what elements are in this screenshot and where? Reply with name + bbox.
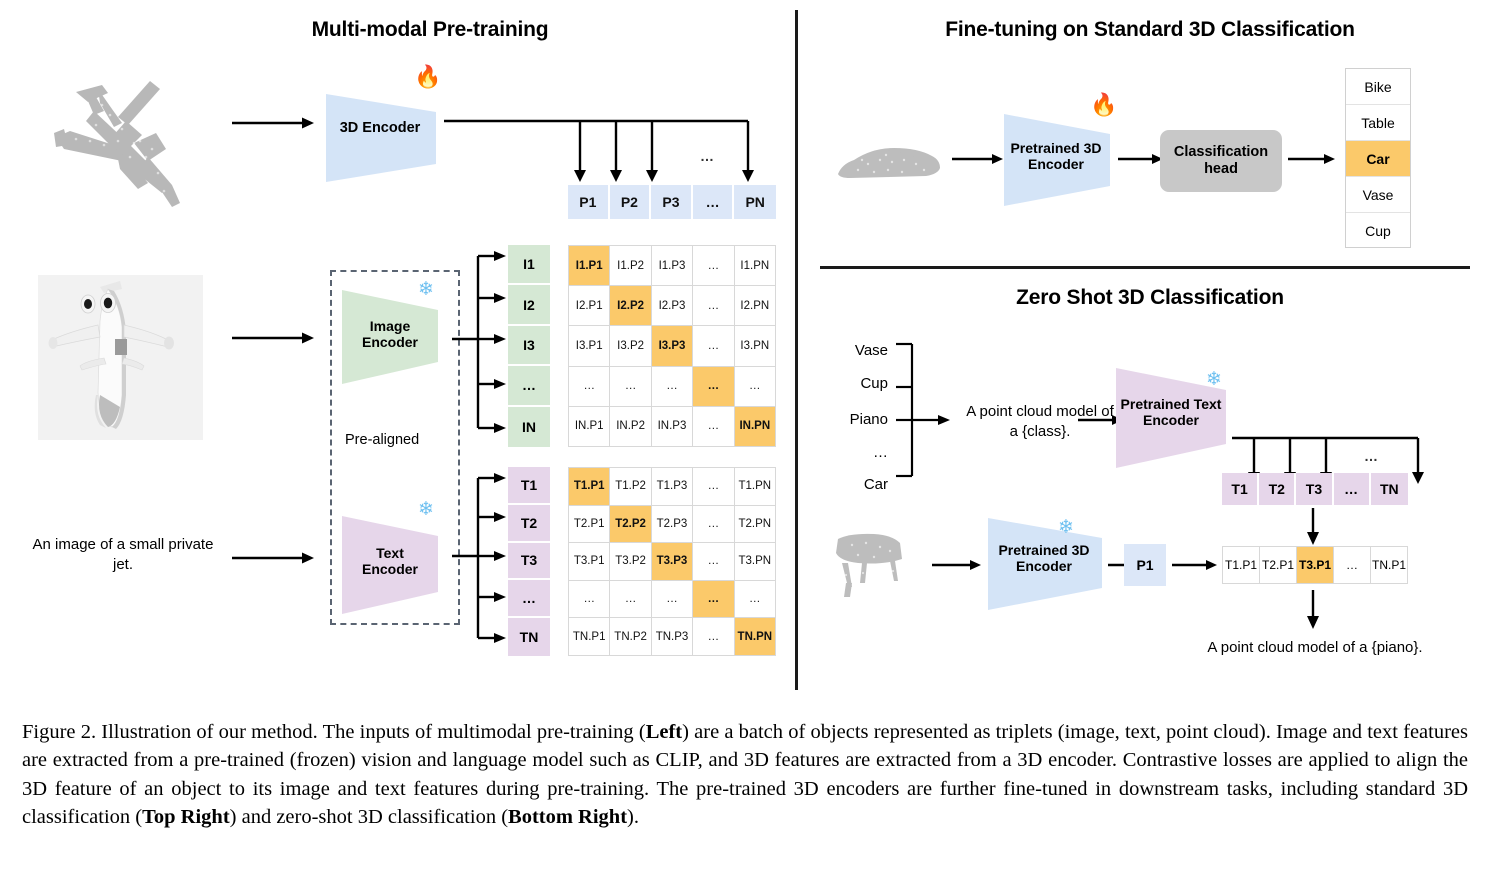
caption-suffix: ). [627, 806, 639, 828]
snowflake-icon: ❄ [1206, 370, 1222, 389]
classification-head-box[interactable]: Classification head [1160, 130, 1282, 192]
zeroshot-score-cell: T1.P1 [1223, 547, 1259, 583]
image-similarity-cell: I2.PN [735, 286, 775, 325]
classification-head-line1: Classification [1174, 144, 1268, 160]
zeroshot-result-text: A point cloud model of a {piano}. [1180, 638, 1450, 658]
arrow-p1-to-scores [1172, 558, 1218, 572]
text-similarity-cell: T2.P1 [569, 506, 609, 543]
text-similarity-cell: T3.P1 [569, 543, 609, 580]
p1-feature-box[interactable]: P1 [1124, 544, 1166, 586]
jet-render-image [38, 275, 203, 440]
text-similarity-cell: … [693, 506, 733, 543]
fanout-ellipsis: … [700, 148, 715, 164]
p-feature-cell[interactable]: … [693, 185, 735, 219]
zeroshot-class-item: Car [826, 467, 888, 501]
car-pointcloud-icon [828, 130, 948, 190]
text-similarity-cell: TN.P2 [610, 618, 650, 655]
image-similarity-cell: IN.PN [735, 407, 775, 446]
image-similarity-cell: I1.P3 [652, 246, 692, 285]
image-similarity-cell: I1.PN [735, 246, 775, 285]
topright-panel-title: Fine-tuning on Standard 3D Classificatio… [870, 18, 1430, 42]
t-feature-cell[interactable]: T1 [508, 467, 550, 505]
text-similarity-cell: TN.P1 [569, 618, 609, 655]
pretrained-3d-encoder-shape-zeroshot[interactable] [984, 514, 1116, 614]
arrow-t-row-to-scores [1306, 508, 1320, 546]
arrow-scores-to-result [1306, 590, 1320, 630]
arrow-pointcloud-to-3d-encoder [232, 115, 316, 131]
image-feature-fanout [452, 248, 508, 444]
text-similarity-cell: T1.P2 [610, 468, 650, 505]
arrow-car-to-encoder [952, 152, 1004, 166]
text-encoder-shape[interactable] [338, 510, 454, 618]
image-similarity-cell: IN.P3 [652, 407, 692, 446]
text-similarity-cell: … [569, 581, 609, 618]
p-feature-cell[interactable]: P1 [568, 185, 610, 219]
zeroshot-t-cell[interactable]: T3 [1296, 473, 1333, 505]
fire-icon: 🔥 [1090, 94, 1117, 116]
text-similarity-cell: … [610, 581, 650, 618]
fire-icon: 🔥 [414, 66, 441, 88]
class-list-item[interactable]: Bike [1346, 69, 1410, 105]
text-similarity-cell: … [693, 581, 733, 618]
text-similarity-cell: … [693, 468, 733, 505]
text-feature-fanout [452, 470, 508, 650]
i-feature-cell[interactable]: IN [508, 407, 550, 447]
threed-encoder-shape[interactable] [320, 92, 448, 184]
text-input-value: An image of a small private jet. [33, 536, 214, 573]
zeroshot-class-item: Vase [826, 335, 888, 365]
zeroshot-score-cell: … [1334, 547, 1370, 583]
zeroshot-class-item: Piano [826, 401, 888, 437]
image-similarity-cell: I3.P1 [569, 326, 609, 365]
arrow-head-to-classes [1288, 152, 1336, 166]
t-feature-cell[interactable]: T3 [508, 543, 550, 581]
snowflake-icon: ❄ [418, 500, 434, 519]
text-similarity-cell: T1.PN [735, 468, 775, 505]
image-point-similarity-matrix: I1.P1I1.P2I1.P3…I1.PNI2.P1I2.P2I2.P3…I2.… [568, 245, 776, 447]
bottomright-panel-title: Zero Shot 3D Classification [870, 286, 1430, 310]
image-similarity-cell: … [735, 367, 775, 406]
image-similarity-cell: IN.P1 [569, 407, 609, 446]
arrow-encoder-to-head [1118, 152, 1164, 166]
arrow-text-to-text-encoder [232, 550, 316, 566]
class-list-item[interactable]: Vase [1346, 177, 1410, 213]
classification-head-line2: head [1204, 161, 1238, 177]
left-panel-title: Multi-modal Pre-training [270, 18, 590, 42]
image-similarity-cell: … [693, 407, 733, 446]
image-similarity-cell: I2.P3 [652, 286, 692, 325]
arrow-image-to-image-encoder [232, 330, 316, 346]
class-list-item[interactable]: Table [1346, 105, 1410, 141]
text-similarity-cell: T3.PN [735, 543, 775, 580]
text-input-caption: An image of a small private jet. [28, 535, 218, 574]
image-similarity-cell: I3.P2 [610, 326, 650, 365]
prealigned-label: Pre-aligned [345, 432, 419, 448]
image-similarity-cell: … [693, 367, 733, 406]
threed-feature-fanout [444, 112, 764, 190]
p-feature-row: P1 P2 P3 … PN [568, 185, 776, 219]
zeroshot-t-cell[interactable]: T2 [1259, 473, 1296, 505]
image-similarity-cell: I2.P2 [610, 286, 650, 325]
image-feature-column: I1 I2 I3 … IN [508, 245, 550, 447]
text-similarity-cell: TN.P3 [652, 618, 692, 655]
text-similarity-cell: … [693, 543, 733, 580]
prompt-line2: a {class}. [1010, 423, 1071, 440]
zeroshot-t-cell[interactable]: … [1334, 473, 1371, 505]
text-feature-column: T1 T2 T3 … TN [508, 467, 550, 656]
caption-prefix: Figure 2. Illustration of our method. Th… [22, 721, 646, 743]
airplane-pointcloud-icon [30, 45, 230, 220]
text-similarity-cell: TN.PN [735, 618, 775, 655]
class-list-item[interactable]: Cup [1346, 213, 1410, 249]
snowflake-icon: ❄ [418, 280, 434, 299]
arrow-piano-to-encoder [932, 558, 982, 572]
image-encoder-shape[interactable] [338, 288, 454, 388]
class-list-item[interactable]: Car [1346, 141, 1410, 177]
horizontal-divider [820, 266, 1470, 269]
image-similarity-cell: I3.PN [735, 326, 775, 365]
p-feature-cell[interactable]: P3 [651, 185, 693, 219]
t-feature-cell[interactable]: TN [508, 618, 550, 656]
text-similarity-cell: … [735, 581, 775, 618]
image-similarity-cell: I3.P3 [652, 326, 692, 365]
vertical-divider [795, 10, 798, 690]
t-feature-cell[interactable]: T2 [508, 505, 550, 543]
image-similarity-cell: I2.P1 [569, 286, 609, 325]
class-prediction-list: BikeTableCarVaseCup [1345, 68, 1411, 248]
caption-bold-left: Left [646, 721, 682, 743]
p-feature-cell[interactable]: P2 [610, 185, 652, 219]
text-similarity-cell: T1.P1 [569, 468, 609, 505]
text-similarity-cell: T2.PN [735, 506, 775, 543]
pretrained-3d-encoder-shape-finetune[interactable] [1000, 112, 1124, 208]
zeroshot-score-cell: T2.P1 [1260, 547, 1296, 583]
text-similarity-cell: … [693, 618, 733, 655]
image-similarity-cell: … [693, 286, 733, 325]
zeroshot-t-feature-row: T1 T2 T3 … TN [1222, 473, 1408, 505]
text-similarity-cell: T2.P3 [652, 506, 692, 543]
zeroshot-class-item: … [826, 437, 888, 467]
zeroshot-class-item: Cup [826, 365, 888, 401]
image-similarity-cell: … [569, 367, 609, 406]
class-brace-and-arrow [890, 338, 952, 483]
zeroshot-score-cell: T3.P1 [1297, 547, 1333, 583]
zeroshot-t-cell[interactable]: TN [1371, 473, 1408, 505]
piano-pointcloud-icon [828, 525, 928, 605]
zeroshot-class-list: Vase Cup Piano … Car [826, 335, 888, 501]
text-similarity-cell: T3.P3 [652, 543, 692, 580]
image-similarity-cell: I1.P2 [610, 246, 650, 285]
i-feature-cell[interactable]: I3 [508, 326, 550, 366]
zeroshot-score-cell: TN.P1 [1371, 547, 1407, 583]
t-feature-cell[interactable]: … [508, 580, 550, 618]
caption-bold-bottomright: Bottom Right [508, 806, 627, 828]
i-feature-cell[interactable]: I1 [508, 245, 550, 285]
text-point-similarity-matrix: T1.P1T1.P2T1.P3…T1.PNT2.P1T2.P2T2.P3…T2.… [568, 467, 776, 656]
image-similarity-cell: I1.P1 [569, 246, 609, 285]
zeroshot-score-row: T1.P1T2.P1T3.P1…TN.P1 [1222, 546, 1408, 584]
caption-mid2: ) and zero-shot 3D classification ( [230, 806, 508, 828]
image-similarity-cell: … [693, 246, 733, 285]
image-similarity-cell: IN.P2 [610, 407, 650, 446]
image-similarity-cell: … [693, 326, 733, 365]
text-similarity-cell: … [652, 581, 692, 618]
zeroshot-fanout-ellipsis: … [1364, 448, 1379, 464]
image-similarity-cell: … [652, 367, 692, 406]
caption-bold-topright: Top Right [142, 806, 230, 828]
figure-canvas: Multi-modal Pre-training [0, 0, 1490, 700]
image-similarity-cell: … [610, 367, 650, 406]
text-similarity-cell: T2.P2 [610, 506, 650, 543]
text-similarity-cell: T3.P2 [610, 543, 650, 580]
zeroshot-t-cell[interactable]: T1 [1222, 473, 1259, 505]
figure-caption: Figure 2. Illustration of our method. Th… [22, 718, 1468, 831]
i-feature-cell[interactable]: I2 [508, 285, 550, 325]
snowflake-icon: ❄ [1058, 518, 1074, 537]
p-feature-cell[interactable]: PN [734, 185, 776, 219]
text-similarity-cell: T1.P3 [652, 468, 692, 505]
i-feature-cell[interactable]: … [508, 366, 550, 406]
